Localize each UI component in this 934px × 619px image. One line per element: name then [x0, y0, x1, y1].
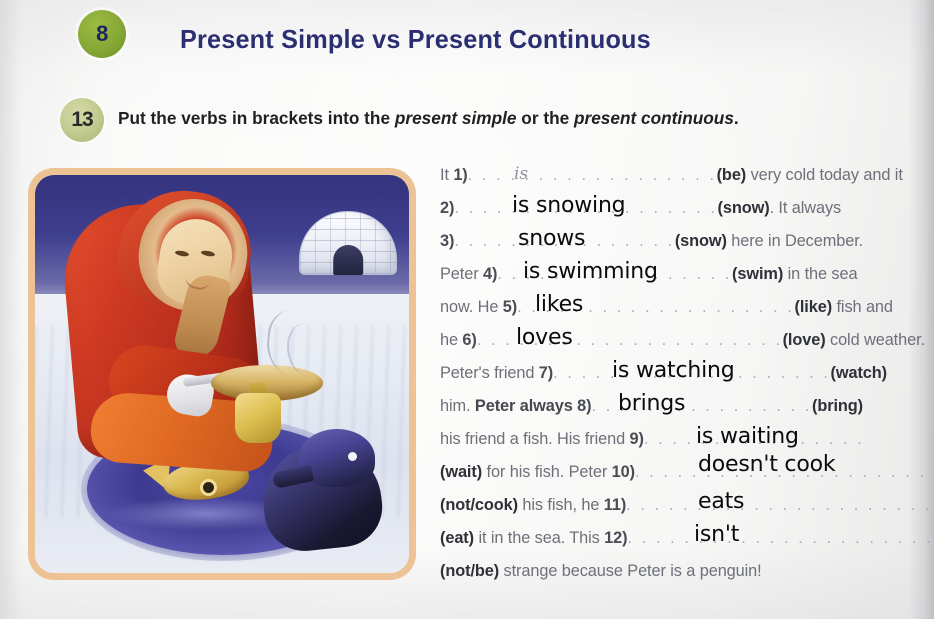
line-text: him.	[440, 397, 475, 415]
answer-1[interactable]: is	[514, 164, 528, 184]
worksheet-page: 8 Present Simple vs Present Continuous 1…	[0, 0, 934, 619]
exercise-number-badge: 13	[60, 98, 104, 142]
passage-line-10: (wait) for his fish. Peter 10). . . . . …	[440, 463, 934, 489]
illustration-frame	[28, 168, 416, 580]
page-title: Present Simple vs Present Continuous	[180, 24, 651, 55]
blank-number: 12)	[604, 529, 627, 547]
passage-line-3: 3). . . . . . . . . . . . . . . .(snow) …	[440, 232, 863, 258]
passage-line-12: (eat) it in the sea. This 12). . . . . .…	[440, 529, 933, 555]
blank-number: 2)	[440, 199, 454, 217]
answer-5[interactable]: likes	[535, 292, 583, 317]
blank-number: 8)	[573, 397, 592, 415]
page-left-edge-shadow	[0, 0, 22, 619]
passage-line-2: 2). . . . . . . . . . . . . . . . . . .(…	[440, 199, 841, 225]
answer-blank[interactable]: . . . . . . . . . . . . . . . . . .	[468, 166, 717, 184]
arctic-scene-illustration	[35, 175, 409, 573]
answer-blank[interactable]: . . . . . . . . . . . . . . . . . . . . …	[628, 529, 934, 547]
answer-3[interactable]: snows	[518, 226, 585, 251]
answer-4[interactable]: is swimming	[523, 259, 658, 284]
verb-cue: (swim)	[732, 265, 783, 283]
instruction-part-1: Put the verbs in brackets into the	[118, 108, 395, 128]
instruction-italic-present-simple: present simple	[395, 108, 517, 128]
answer-10[interactable]: doesn't cook	[698, 452, 835, 477]
blank-number: 9)	[630, 430, 644, 448]
verb-cue: (love)	[783, 331, 826, 349]
line-text: now. He	[440, 298, 503, 316]
verb-cue: (watch)	[831, 364, 887, 382]
line-text: strange because Peter is a penguin!	[499, 562, 762, 580]
emphasised-text: Peter always	[475, 397, 573, 415]
blank-number: 4)	[483, 265, 497, 283]
igloo	[299, 209, 395, 275]
verb-cue: (like)	[794, 298, 832, 316]
blank-number: 11)	[604, 496, 626, 514]
line-text: he	[440, 331, 462, 349]
blank-number: 3)	[440, 232, 454, 250]
camping-stove	[235, 393, 281, 443]
verb-cue: (wait)	[440, 463, 482, 481]
line-text: for his fish. Peter	[482, 463, 612, 481]
line-text: here in December.	[727, 232, 863, 250]
verb-cue: (eat)	[440, 529, 474, 547]
line-text: It	[440, 166, 453, 184]
answer-blank[interactable]: . . . . . . . . . . . . . . . . . . . . …	[626, 496, 934, 514]
blank-number: 5)	[503, 298, 517, 316]
penguin-eye	[348, 452, 357, 461]
exercise-number-label: 13	[60, 98, 104, 142]
line-text: his fish, he	[518, 496, 604, 514]
verb-cue: (not/be)	[440, 562, 499, 580]
instruction-part-3: .	[734, 108, 739, 128]
verb-cue: (not/cook)	[440, 496, 518, 514]
passage-line-5: now. He 5). . . . . . . . . . . . . . . …	[440, 298, 893, 324]
fish-eye	[203, 482, 214, 493]
verb-cue: (snow)	[718, 199, 770, 217]
line-text: Peter's friend	[440, 364, 539, 382]
line-text: in the sea	[783, 265, 857, 283]
line-text: his friend a fish. His friend	[440, 430, 630, 448]
answer-7[interactable]: is watching	[612, 358, 735, 383]
verb-cue: (bring)	[812, 397, 863, 415]
answer-11[interactable]: eats	[698, 489, 744, 514]
instruction-part-2: or the	[517, 108, 574, 128]
passage-line-13: (not/be) strange because Peter is a peng…	[440, 562, 762, 588]
blank-number: 1)	[453, 166, 467, 184]
unit-number-badge: 8	[78, 10, 126, 58]
line-text: it in the sea. This	[474, 529, 604, 547]
answer-9[interactable]: is waiting	[696, 424, 799, 449]
blank-number: 7)	[539, 364, 553, 382]
instruction-italic-present-continuous: present continuous	[574, 108, 734, 128]
passage-line-6: he 6). . . . . . . . . . . . . . . . . .…	[440, 331, 925, 357]
verb-cue: (be)	[717, 166, 747, 184]
answer-8[interactable]: brings	[618, 391, 685, 416]
line-text: fish and	[832, 298, 893, 316]
passage-line-1: It 1). . . . . . . . . . . . . . . . . .…	[440, 166, 903, 192]
line-text: cold weather.	[826, 331, 925, 349]
unit-number-label: 8	[78, 10, 126, 58]
line-text: Peter	[440, 265, 483, 283]
igloo-entrance	[333, 245, 363, 275]
exercise-text-column: It 1). . . . . . . . . . . . . . . . . .…	[440, 166, 932, 586]
line-text: very cold today and it	[746, 166, 903, 184]
answer-6[interactable]: loves	[516, 325, 573, 350]
verb-cue: (snow)	[675, 232, 727, 250]
line-text: . It always	[770, 199, 842, 217]
blank-number: 10)	[612, 463, 635, 481]
exercise-instruction: Put the verbs in brackets into the prese…	[118, 108, 739, 129]
answer-12[interactable]: isn't	[694, 522, 739, 547]
answer-2[interactable]: is snowing	[512, 193, 625, 218]
blank-number: 6)	[462, 331, 476, 349]
passage-line-11: (not/cook) his fish, he 11). . . . . . .…	[440, 496, 934, 522]
